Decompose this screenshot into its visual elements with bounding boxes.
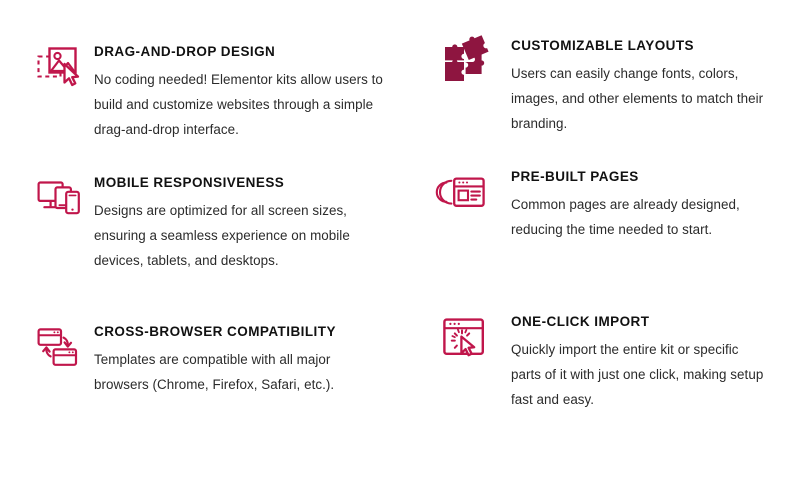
feature-card-one-click-import: ONE-CLICK IMPORT Quickly import the enti… [400,302,800,462]
feature-text-block: PRE-BUILT PAGES Common pages are already… [511,169,800,242]
feature-text-block: CUSTOMIZABLE LAYOUTS Users can easily ch… [511,38,800,136]
features-board: DRAG-AND-DROP DESIGN No coding needed! E… [0,0,800,500]
feature-description: No coding needed! Elementor kits allow u… [94,67,384,142]
feature-card-drag-and-drop-design: DRAG-AND-DROP DESIGN No coding needed! E… [0,0,400,157]
feature-text-block: ONE-CLICK IMPORT Quickly import the enti… [511,314,800,412]
feature-description: Common pages are already designed, reduc… [511,192,769,242]
feature-card-customizable-layouts: CUSTOMIZABLE LAYOUTS Users can easily ch… [400,0,800,157]
devices-responsive-icon [36,175,82,221]
feature-text-block: MOBILE RESPONSIVENESS Designs are optimi… [94,175,400,273]
feature-text-block: DRAG-AND-DROP DESIGN No coding needed! E… [94,44,400,142]
feature-description: Designs are optimized for all screen siz… [94,198,384,273]
feature-card-mobile-responsiveness: MOBILE RESPONSIVENESS Designs are optimi… [0,157,400,302]
feature-title: ONE-CLICK IMPORT [511,315,800,330]
feature-title: DRAG-AND-DROP DESIGN [94,45,400,60]
puzzle-pieces-icon [441,38,487,84]
feature-title: MOBILE RESPONSIVENESS [94,176,400,191]
stacked-browser-windows-icon [441,169,487,215]
one-click-cursor-icon [441,314,487,360]
feature-title: PRE-BUILT PAGES [511,170,800,185]
feature-card-pre-built-pages: PRE-BUILT PAGES Common pages are already… [400,157,800,302]
feature-description: Quickly import the entire kit or specifi… [511,337,769,412]
cross-browser-sync-icon [36,324,82,370]
feature-card-cross-browser-compatibility: CROSS-BROWSER COMPATIBILITY Templates ar… [0,302,400,462]
feature-description: Templates are compatible with all major … [94,347,384,397]
features-grid: DRAG-AND-DROP DESIGN No coding needed! E… [0,0,800,500]
feature-title: CUSTOMIZABLE LAYOUTS [511,39,800,54]
image-drag-drop-icon [36,44,82,90]
feature-text-block: CROSS-BROWSER COMPATIBILITY Templates ar… [94,324,400,397]
feature-description: Users can easily change fonts, colors, i… [511,61,769,136]
feature-title: CROSS-BROWSER COMPATIBILITY [94,325,400,340]
